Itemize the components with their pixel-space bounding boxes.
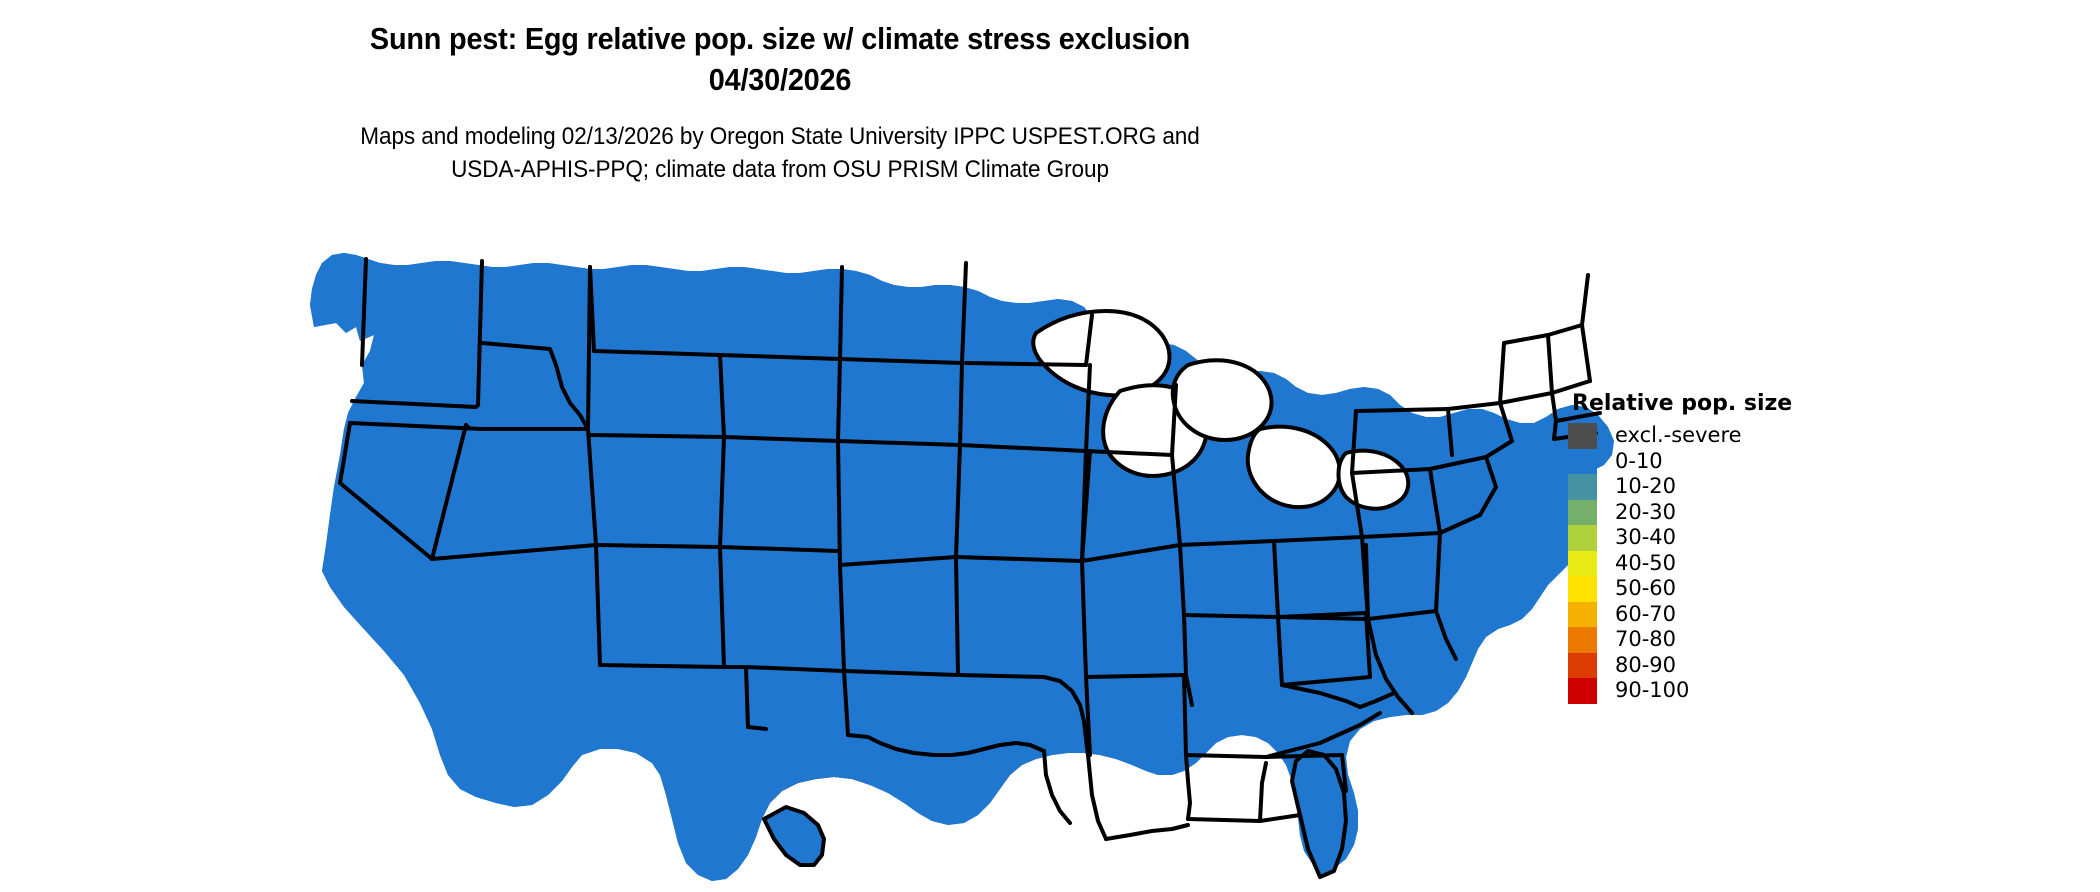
legend-swatch (1568, 474, 1597, 500)
legend-label: 20-30 (1615, 500, 1676, 526)
legend-swatch (1568, 449, 1597, 475)
legend-swatch (1568, 653, 1597, 679)
legend-swatch (1568, 576, 1597, 602)
legend-title: Relative pop. size (1572, 392, 1898, 416)
legend-swatch (1568, 500, 1597, 526)
legend-entries: excl.-severe0-1010-2020-3030-4040-5050-6… (1568, 423, 1898, 704)
legend-label: excl.-severe (1615, 423, 1742, 449)
legend-swatch (1568, 525, 1597, 551)
legend-label: 40-50 (1615, 551, 1676, 577)
legend-row: 50-60 (1568, 576, 1898, 602)
map-canvas (300, 215, 1620, 885)
legend-row: 80-90 (1568, 653, 1898, 679)
legend-swatch (1568, 627, 1597, 653)
legend-label: 30-40 (1615, 525, 1676, 551)
page-subtitle-line-1: Maps and modeling 02/13/2026 by Oregon S… (47, 120, 1513, 153)
legend-swatch (1568, 678, 1597, 704)
legend-row: 60-70 (1568, 602, 1898, 628)
legend-swatch (1568, 423, 1597, 449)
legend-label: 10-20 (1615, 474, 1676, 500)
legend-label: 70-80 (1615, 627, 1676, 653)
legend-row: 10-20 (1568, 474, 1898, 500)
page-title-line-2: 04/30/2026 (55, 59, 1506, 100)
legend-label: 60-70 (1615, 602, 1676, 628)
legend-row: excl.-severe (1568, 423, 1898, 449)
legend-row: 70-80 (1568, 627, 1898, 653)
legend-label: 80-90 (1615, 653, 1676, 679)
legend-swatch (1568, 602, 1597, 628)
page-subtitle: Maps and modeling 02/13/2026 by Oregon S… (0, 120, 1560, 186)
legend-row: 40-50 (1568, 551, 1898, 577)
legend-swatch (1568, 551, 1597, 577)
legend-row: 30-40 (1568, 525, 1898, 551)
legend-row: 90-100 (1568, 678, 1898, 704)
page-title: Sunn pest: Egg relative pop. size w/ cli… (0, 18, 1560, 100)
page-title-line-1: Sunn pest: Egg relative pop. size w/ cli… (55, 18, 1506, 59)
page-subtitle-line-2: USDA-APHIS-PPQ; climate data from OSU PR… (47, 153, 1513, 186)
legend-row: 20-30 (1568, 500, 1898, 526)
legend-row: 0-10 (1568, 449, 1898, 475)
us-choropleth-map (300, 215, 1620, 885)
state-boundaries (310, 253, 1614, 881)
legend-label: 90-100 (1615, 678, 1689, 704)
legend: Relative pop. size excl.-severe0-1010-20… (1568, 392, 1898, 704)
map-figure: Sunn pest: Egg relative pop. size w/ cli… (0, 0, 2100, 892)
legend-label: 50-60 (1615, 576, 1676, 602)
legend-label: 0-10 (1615, 449, 1663, 475)
